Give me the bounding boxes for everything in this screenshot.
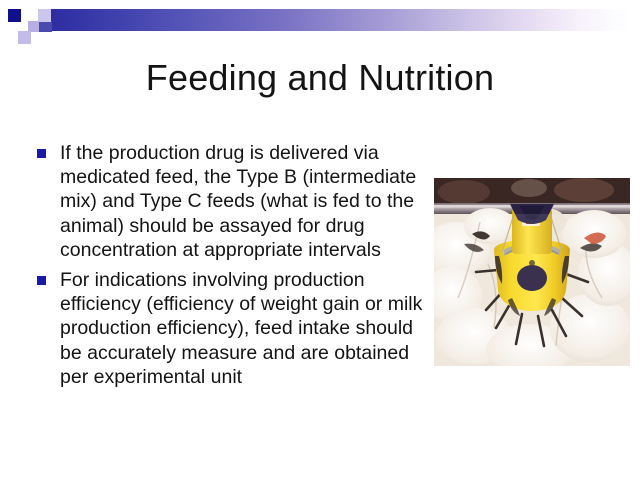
bullet-item: For indications involving production eff… [34,268,434,389]
lavender-square-3-icon [18,31,31,44]
presentation-slide: Feeding and Nutrition If the production … [0,0,640,480]
gradient-bar-left-block [38,21,52,32]
lavender-square-1-icon [38,9,51,22]
bullet-marker-icon [37,149,46,158]
slide-header-decoration [0,0,640,50]
poultry-feeder-photo [434,178,630,366]
poultry-feeder-illustration [434,178,630,366]
bullet-item: If the production drug is delivered via … [34,141,434,262]
bullet-text: For indications involving production eff… [60,268,434,389]
bullet-marker-icon [37,276,46,285]
navy-square-icon [8,9,21,22]
slide-body: If the production drug is delivered via … [34,141,434,395]
slide-title: Feeding and Nutrition [0,56,640,100]
gradient-bar [38,9,628,31]
bullet-text: If the production drug is delivered via … [60,141,434,262]
